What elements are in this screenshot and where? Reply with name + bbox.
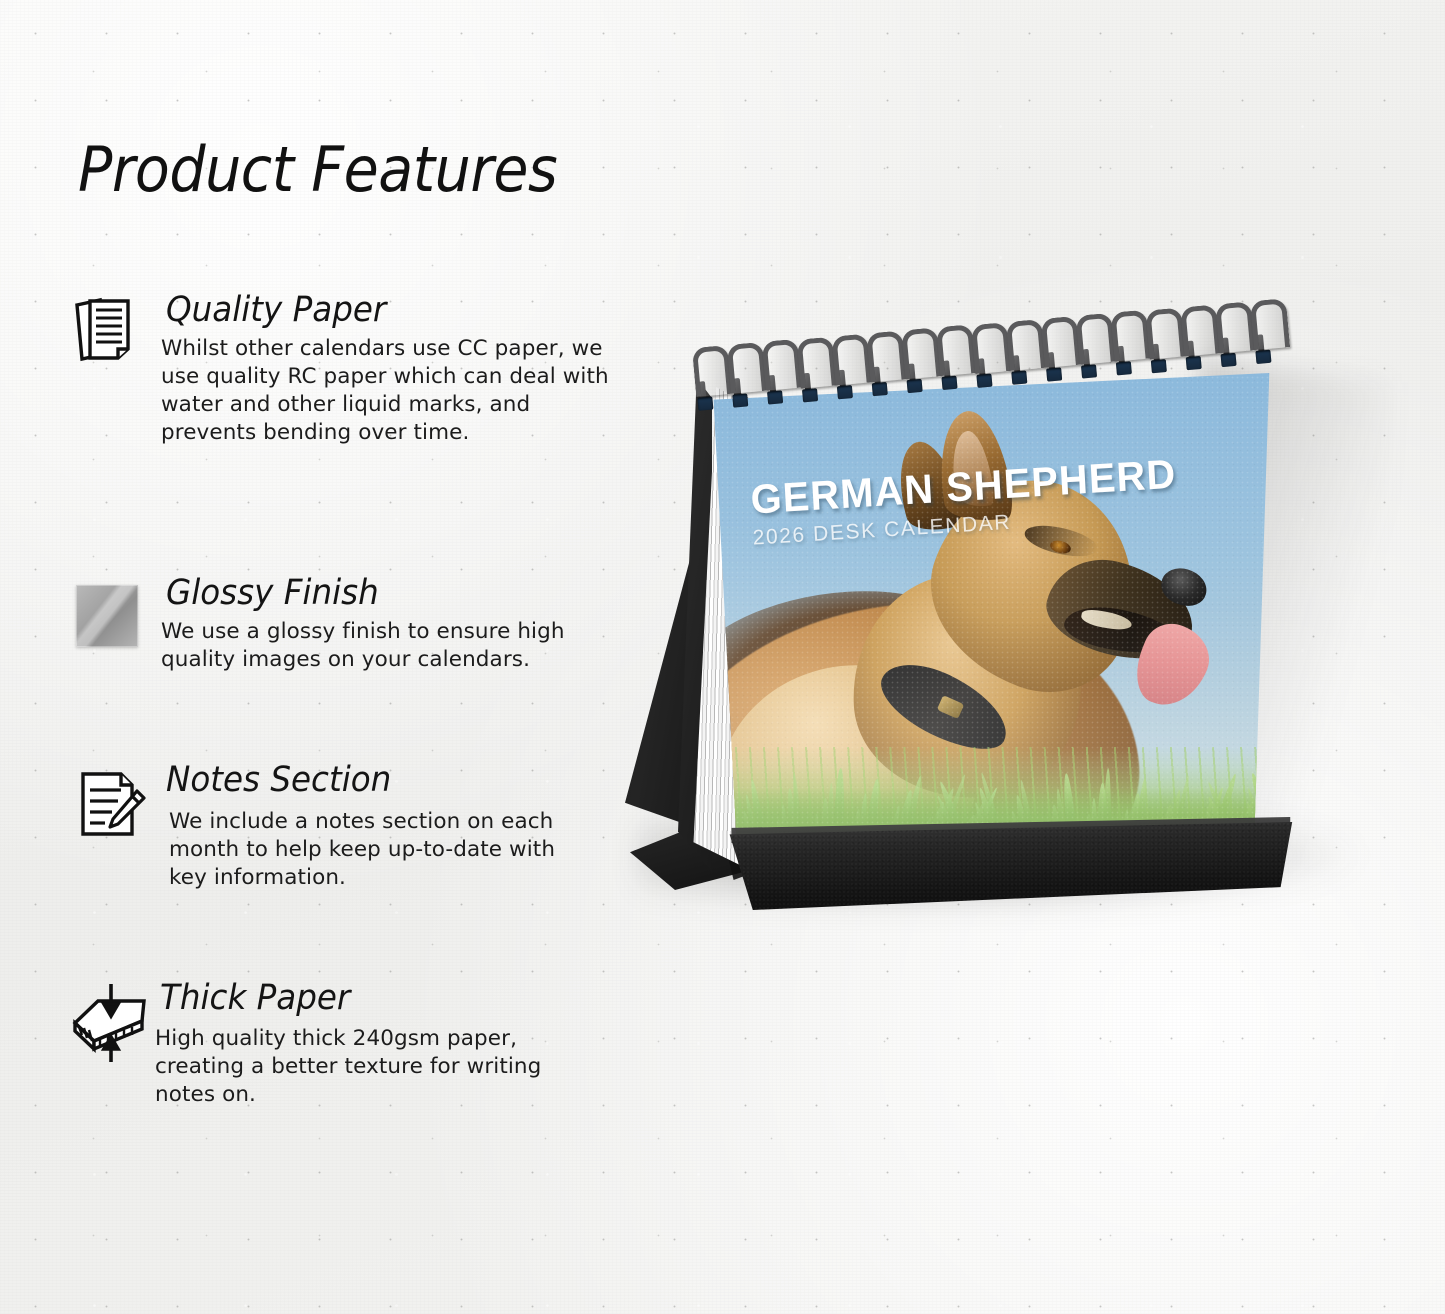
feature-title: Notes Section xyxy=(166,762,598,799)
spiral-punch-hole xyxy=(1221,353,1237,367)
spiral-coil xyxy=(901,327,941,379)
product-image-desk-calendar: GERMAN SHEPHERD 2026 DESK CALENDAR xyxy=(600,330,1400,930)
spiral-punch-hole xyxy=(837,385,853,399)
spiral-coil xyxy=(831,333,871,385)
paper-thickness-icon xyxy=(70,982,156,1064)
spiral-coil xyxy=(936,325,976,377)
spiral-punch-hole xyxy=(907,379,923,393)
feature-description: Whilst other calendars use CC paper, we … xyxy=(161,335,616,447)
spiral-coil xyxy=(1006,319,1046,371)
feature-title: Glossy Finish xyxy=(166,575,598,612)
feature-description: High quality thick 240gsm paper, creatin… xyxy=(155,1025,555,1109)
feature-text-block: Notes Section We include a notes section… xyxy=(166,762,630,893)
feature-thick-paper: Thick Paper High quality thick 240gsm pa… xyxy=(70,980,630,1109)
spiral-punch-hole xyxy=(697,397,713,411)
stacked-paper-icon xyxy=(70,292,146,368)
spiral-coil xyxy=(866,330,906,382)
glossy-swatch-surface xyxy=(76,585,138,647)
card-light-sheen xyxy=(705,370,1275,880)
spiral-punch-hole xyxy=(1046,367,1062,381)
spiral-coil xyxy=(1215,301,1255,353)
document-pencil-icon xyxy=(74,766,150,842)
page-title: Product Features xyxy=(78,133,557,206)
spiral-punch-hole xyxy=(1151,359,1167,373)
feature-description: We use a glossy finish to ensure high qu… xyxy=(161,618,581,674)
feature-quality-paper: Quality Paper Whilst other calendars use… xyxy=(70,292,630,447)
feature-text-block: Glossy Finish We use a glossy finish to … xyxy=(166,575,630,674)
feature-description: We include a notes section on each month… xyxy=(169,808,599,892)
spiral-punch-hole xyxy=(732,394,748,408)
spiral-coil xyxy=(1076,313,1116,365)
spiral-coil xyxy=(1180,304,1220,356)
spiral-coil xyxy=(692,345,732,397)
feature-list: Quality Paper Whilst other calendars use… xyxy=(70,292,630,1109)
spiral-punch-hole xyxy=(767,391,783,405)
spiral-punch-hole xyxy=(1081,364,1097,378)
spiral-coil xyxy=(1250,298,1290,350)
spiral-punch-hole xyxy=(1255,350,1271,364)
spiral-punch-hole xyxy=(976,373,992,387)
spiral-coil xyxy=(1041,316,1081,368)
spiral-punch-hole xyxy=(802,388,818,402)
spiral-coil xyxy=(797,336,837,388)
feature-title: Quality Paper xyxy=(166,292,598,329)
feature-glossy-finish: Glossy Finish We use a glossy finish to … xyxy=(70,575,630,674)
spiral-punch-hole xyxy=(1186,356,1202,370)
spiral-punch-hole xyxy=(941,376,957,390)
spiral-punch-hole xyxy=(872,382,888,396)
calendar-front-cover: GERMAN SHEPHERD 2026 DESK CALENDAR xyxy=(705,370,1275,880)
spiral-coil xyxy=(1110,310,1150,362)
spiral-coil xyxy=(1145,307,1185,359)
spiral-coil xyxy=(727,342,767,394)
spiral-punch-hole xyxy=(1011,370,1027,384)
feature-title: Thick Paper xyxy=(160,980,597,1017)
spiral-coil xyxy=(762,339,802,391)
spiral-punch-hole xyxy=(1116,362,1132,376)
feature-text-block: Thick Paper High quality thick 240gsm pa… xyxy=(160,980,630,1109)
feature-text-block: Quality Paper Whilst other calendars use… xyxy=(166,292,630,447)
spiral-coil xyxy=(971,322,1011,374)
feature-notes-section: Notes Section We include a notes section… xyxy=(70,762,630,893)
glossy-swatch-icon xyxy=(76,585,138,647)
